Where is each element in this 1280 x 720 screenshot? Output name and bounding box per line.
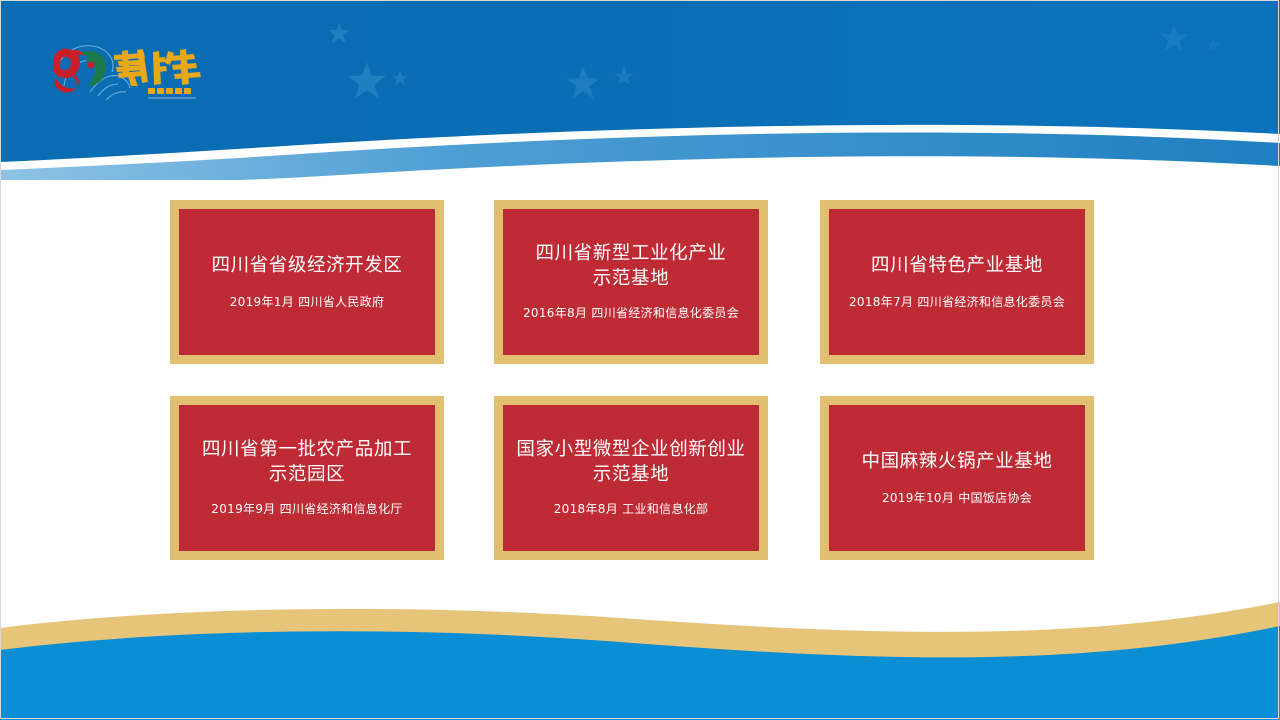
award-meta: 2019年9月 四川省经济和信息化厅	[211, 502, 402, 518]
logo-red-emblem	[53, 49, 85, 93]
award-meta: 2018年7月 四川省经济和信息化委员会	[849, 295, 1065, 311]
star-5-icon	[614, 66, 634, 85]
star-1-icon	[328, 22, 350, 43]
logo-red-dot	[88, 62, 95, 69]
award-meta: 2019年10月 中国饭店协会	[882, 491, 1032, 507]
logo-green-emblem	[82, 51, 106, 86]
slide-footer-banner	[0, 580, 1280, 720]
award-card-inner: 四川省特色产业基地 2018年7月 四川省经济和信息化委员会	[829, 209, 1085, 355]
award-card-inner: 中国麻辣火锅产业基地 2019年10月 中国饭店协会	[829, 405, 1085, 551]
logo-wordmark-glyphs	[114, 49, 201, 86]
logo-pinyin-line	[148, 97, 196, 99]
award-meta: 2018年8月 工业和信息化部	[554, 502, 709, 518]
star-3-icon	[392, 70, 408, 85]
star-6-icon	[1160, 24, 1188, 51]
award-title: 四川省新型工业化产业 示范基地	[535, 242, 726, 291]
award-card[interactable]: 四川省特色产业基地 2018年7月 四川省经济和信息化委员会	[820, 200, 1094, 364]
award-card-inner: 四川省新型工业化产业 示范基地 2016年8月 四川省经济和信息化委员会	[503, 209, 759, 355]
award-card[interactable]: 四川省新型工业化产业 示范基地 2016年8月 四川省经济和信息化委员会	[494, 200, 768, 364]
logo-subtitle-glyphs	[148, 88, 191, 94]
award-meta: 2019年1月 四川省人民政府	[230, 295, 385, 311]
award-card-inner: 四川省第一批农产品加工 示范园区 2019年9月 四川省经济和信息化厅	[179, 405, 435, 551]
award-card[interactable]: 四川省省级经济开发区 2019年1月 四川省人民政府	[170, 200, 444, 364]
wusheng-hotpot-industrial-park-logo	[44, 34, 204, 106]
award-card[interactable]: 中国麻辣火锅产业基地 2019年10月 中国饭店协会	[820, 396, 1094, 560]
award-card-inner: 国家小型微型企业创新创业 示范基地 2018年8月 工业和信息化部	[503, 405, 759, 551]
award-title: 四川省特色产业基地	[871, 254, 1043, 278]
presentation-slide: 四川省省级经济开发区 2019年1月 四川省人民政府 四川省新型工业化产业 示范…	[0, 0, 1280, 720]
star-7-icon	[1206, 38, 1220, 51]
star-4-icon	[566, 66, 600, 99]
award-title: 四川省第一批农产品加工 示范园区	[202, 438, 412, 487]
award-card[interactable]: 四川省第一批农产品加工 示范园区 2019年9月 四川省经济和信息化厅	[170, 396, 444, 560]
award-card-inner: 四川省省级经济开发区 2019年1月 四川省人民政府	[179, 209, 435, 355]
star-2-icon	[348, 62, 386, 98]
slide-header-banner	[0, 0, 1280, 180]
award-meta: 2016年8月 四川省经济和信息化委员会	[523, 306, 739, 322]
award-title: 国家小型微型企业创新创业 示范基地	[516, 438, 745, 487]
award-title: 四川省省级经济开发区	[211, 254, 402, 278]
award-title: 中国麻辣火锅产业基地	[861, 450, 1052, 474]
awards-grid: 四川省省级经济开发区 2019年1月 四川省人民政府 四川省新型工业化产业 示范…	[170, 200, 1091, 564]
award-card[interactable]: 国家小型微型企业创新创业 示范基地 2018年8月 工业和信息化部	[494, 396, 768, 560]
